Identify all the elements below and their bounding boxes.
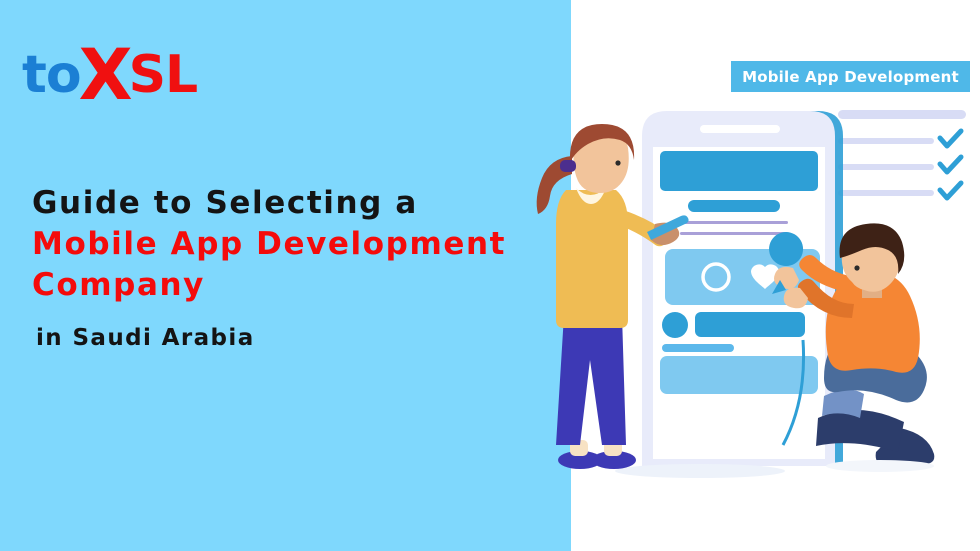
- checklist-row-bar: [838, 138, 934, 144]
- man-eye: [854, 265, 859, 270]
- phone-dark-bar: [695, 312, 805, 337]
- phone-avatar-dot: [662, 312, 688, 338]
- illustration-stage: [0, 0, 980, 551]
- phone-text-line: [680, 232, 788, 235]
- phone-content-card: [660, 356, 818, 394]
- phone-shadow: [615, 464, 785, 478]
- woman-hair-tie: [560, 160, 576, 172]
- woman-eye: [615, 160, 620, 165]
- man-shadow: [826, 460, 934, 472]
- phone-small-bar: [662, 344, 734, 352]
- phone-text-line: [680, 221, 788, 224]
- checklist-row-bar: [838, 164, 934, 170]
- banner-root: toXSL Guide to Selecting a Mobile App De…: [0, 0, 980, 551]
- phone-speaker: [700, 125, 780, 133]
- checklist-title-bar: [838, 110, 966, 119]
- phone-pill-bar: [688, 200, 780, 212]
- woman-pants: [556, 315, 626, 445]
- checklist-card: [824, 102, 980, 220]
- phone-header-bar: [660, 151, 818, 191]
- checklist-row-bar: [838, 190, 934, 196]
